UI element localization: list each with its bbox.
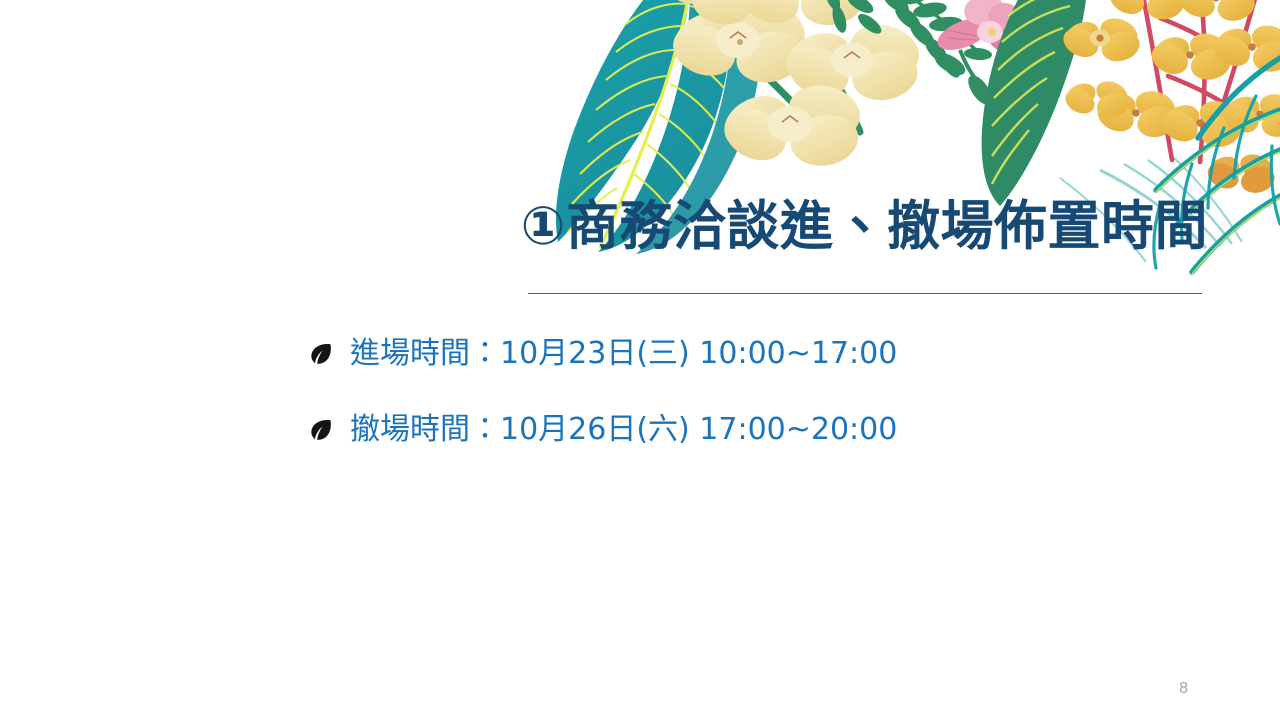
green-fern-frond bbox=[808, 0, 992, 81]
golden-oncidium-cluster bbox=[1059, 0, 1280, 197]
title-divider bbox=[528, 293, 1202, 294]
cream-orchid-cluster bbox=[660, 0, 925, 171]
page-number: 8 bbox=[1179, 680, 1188, 698]
bullet-list: 進場時間：10月23日(三) 10:00~17:00 撤場時間：10月26日(六… bbox=[306, 330, 1186, 482]
slide-canvas: ①商務洽談進、撤場佈置時間 進場時間：10月23日(三) 10:00~17:00… bbox=[0, 0, 1280, 720]
pink-orchid bbox=[931, 0, 1049, 109]
list-item-label: 撤場時間：10月26日(六) 17:00~20:00 bbox=[350, 410, 897, 451]
tropical-floral-header bbox=[500, 0, 1280, 310]
dark-green-leaf bbox=[982, 0, 1087, 206]
page-title: ①商務洽談進、撤場佈置時間 bbox=[0, 196, 1208, 259]
crimson-stem bbox=[1140, 0, 1260, 162]
list-item: 進場時間：10月23日(三) 10:00~17:00 bbox=[306, 330, 1186, 378]
leaf-bullet-icon bbox=[306, 416, 336, 444]
title-block: ①商務洽談進、撤場佈置時間 bbox=[0, 196, 1208, 259]
list-item: 撤場時間：10月26日(六) 17:00~20:00 bbox=[306, 406, 1186, 454]
list-item-label: 進場時間：10月23日(三) 10:00~17:00 bbox=[350, 334, 897, 375]
leaf-bullet-icon bbox=[306, 340, 336, 368]
